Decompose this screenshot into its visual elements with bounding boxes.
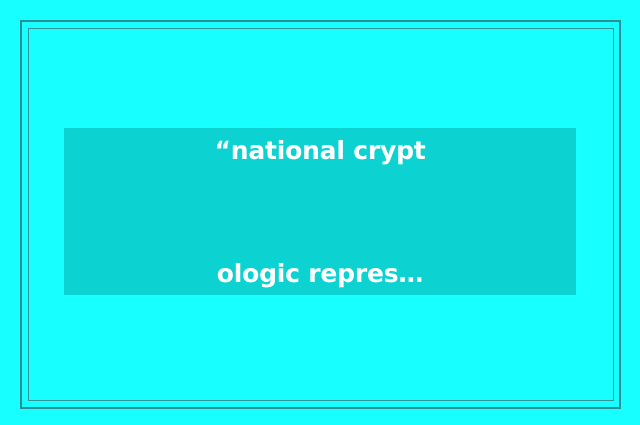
- quote-line-2: ologic repres…: [214, 253, 425, 294]
- quote-panel: “national crypt ologic repres…: [64, 128, 576, 295]
- quote-text-block: “national crypt ologic repres…: [214, 48, 425, 376]
- slide-canvas: “national crypt ologic repres…: [0, 0, 640, 425]
- quote-line-1: “national crypt: [214, 130, 425, 171]
